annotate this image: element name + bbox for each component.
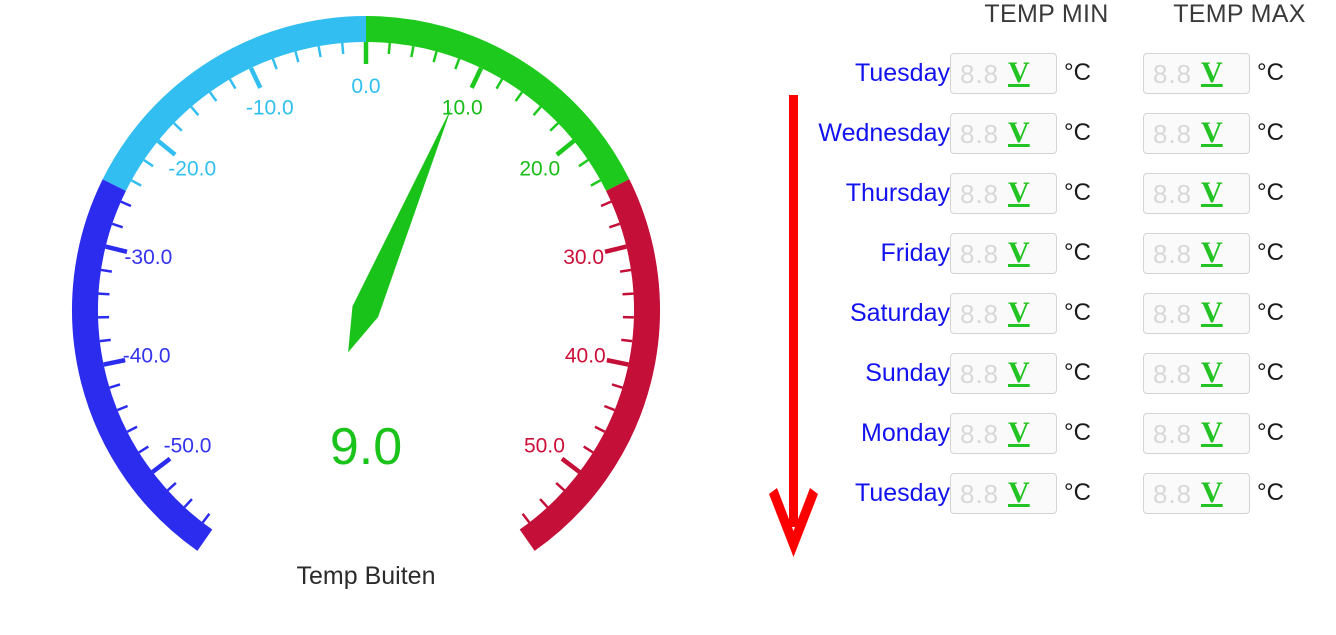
unit-label: °C — [1257, 119, 1284, 147]
temp-max-cell: 8.8V°C — [1143, 283, 1336, 343]
temp-min-cell: 8.8V°C — [950, 283, 1143, 343]
unit-label: °C — [1257, 299, 1284, 327]
temperature-gauge-panel: -50.0-40.0-30.0-20.0-10.00.010.020.030.0… — [0, 0, 740, 635]
gauge-minor-tick — [540, 499, 547, 507]
gauge-major-tick — [472, 68, 481, 88]
gauge-major-tick — [562, 459, 580, 472]
segment-ghost-digits: 8.8 — [1153, 57, 1192, 91]
temp-min-field[interactable]: 8.8V — [950, 233, 1057, 274]
day-cell: Tuesday — [800, 463, 950, 523]
gauge-major-tick — [153, 459, 171, 472]
forecast-table: TEMP MIN TEMP MAX Tuesday8.8V°C8.8V°CWed… — [800, 0, 1336, 523]
segment-live-glyph: V — [1008, 56, 1030, 90]
gauge-major-tick — [605, 247, 626, 252]
gauge-tick-label: -40.0 — [123, 345, 171, 368]
temp-max-cell: 8.8V°C — [1143, 403, 1336, 463]
unit-label: °C — [1257, 419, 1284, 447]
gauge-minor-tick — [144, 160, 153, 166]
gauge-minor-tick — [295, 51, 298, 62]
temp-max-field[interactable]: 8.8V — [1143, 473, 1250, 514]
gauge-minor-tick — [434, 51, 437, 62]
day-label: Friday — [881, 239, 950, 267]
day-cell: Monday — [800, 403, 950, 463]
table-row: Friday8.8V°C8.8V°C — [800, 223, 1336, 283]
day-label: Saturday — [850, 299, 950, 327]
temp-min-cell: 8.8V°C — [950, 223, 1143, 283]
temp-max-cell: 8.8V°C — [1143, 103, 1336, 163]
temp-min-cell: 8.8V°C — [950, 463, 1143, 523]
gauge-minor-tick — [210, 92, 216, 101]
gauge-minor-tick — [389, 43, 390, 54]
gauge-minor-tick — [455, 59, 459, 69]
table-row: Thursday8.8V°C8.8V°C — [800, 163, 1336, 223]
segment-ghost-digits: 8.8 — [1153, 117, 1192, 151]
temp-min-cell: 8.8V°C — [950, 343, 1143, 403]
temp-min-field[interactable]: 8.8V — [950, 113, 1057, 154]
temp-max-field[interactable]: 8.8V — [1143, 293, 1250, 334]
segment-live-glyph: V — [1201, 296, 1223, 330]
segment-ghost-digits: 8.8 — [960, 297, 999, 331]
gauge-minor-tick — [620, 270, 631, 272]
gauge-tick-label: 30.0 — [563, 246, 604, 269]
gauge-minor-tick — [127, 427, 137, 432]
table-row: Sunday8.8V°C8.8V°C — [800, 343, 1336, 403]
segment-ghost-digits: 8.8 — [960, 237, 999, 271]
gauge-minor-tick — [579, 160, 588, 166]
gauge-tick-label: 50.0 — [524, 434, 565, 457]
gauge-band-cold — [114, 29, 366, 185]
gauge-minor-tick — [184, 499, 191, 507]
temp-min-field[interactable]: 8.8V — [950, 353, 1057, 394]
gauge-title-label: Temp Buiten — [297, 562, 436, 590]
segment-live-glyph: V — [1008, 176, 1030, 210]
unit-label: °C — [1257, 359, 1284, 387]
header-row: TEMP MIN TEMP MAX — [800, 0, 1336, 43]
gauge-minor-tick — [612, 384, 623, 387]
gauge-tick-label: -20.0 — [168, 158, 216, 181]
temp-max-cell: 8.8V°C — [1143, 223, 1336, 283]
gauge-minor-tick — [556, 483, 564, 490]
header-temp-min: TEMP MIN — [950, 0, 1143, 43]
gauge-minor-tick — [591, 180, 601, 185]
table-row: Saturday8.8V°C8.8V°C — [800, 283, 1336, 343]
segment-ghost-digits: 8.8 — [960, 417, 999, 451]
table-row: Monday8.8V°C8.8V°C — [800, 403, 1336, 463]
gauge-minor-tick — [319, 46, 321, 57]
gauge-minor-tick — [534, 107, 541, 115]
segment-ghost-digits: 8.8 — [960, 477, 999, 511]
segment-ghost-digits: 8.8 — [1153, 357, 1192, 391]
temp-max-cell: 8.8V°C — [1143, 343, 1336, 403]
day-label: Sunday — [865, 359, 950, 387]
unit-label: °C — [1064, 59, 1091, 87]
segment-ghost-digits: 8.8 — [960, 57, 999, 91]
segment-ghost-digits: 8.8 — [1153, 477, 1192, 511]
unit-label: °C — [1257, 59, 1284, 87]
segment-live-glyph: V — [1008, 296, 1030, 330]
day-label: Monday — [861, 419, 950, 447]
segment-live-glyph: V — [1201, 356, 1223, 390]
gauge-tick-label: 20.0 — [519, 158, 560, 181]
segment-ghost-digits: 8.8 — [1153, 417, 1192, 451]
temp-min-field[interactable]: 8.8V — [950, 413, 1057, 454]
unit-label: °C — [1257, 239, 1284, 267]
gauge-value-readout: 9.0 — [330, 418, 402, 476]
temp-min-field[interactable]: 8.8V — [950, 473, 1057, 514]
unit-label: °C — [1064, 239, 1091, 267]
segment-live-glyph: V — [1201, 116, 1223, 150]
segment-live-glyph: V — [1008, 356, 1030, 390]
temp-min-field[interactable]: 8.8V — [950, 293, 1057, 334]
unit-label: °C — [1064, 359, 1091, 387]
gauge-minor-tick — [621, 340, 632, 341]
forecast-table-body: Tuesday8.8V°C8.8V°CWednesday8.8V°C8.8V°C… — [800, 43, 1336, 523]
day-cell: Wednesday — [800, 103, 950, 163]
gauge-minor-tick — [99, 294, 110, 295]
gauge-tick-label-group: -50.0-40.0-30.0-20.0-10.00.010.020.030.0… — [123, 75, 606, 457]
forecast-panel: TEMP MIN TEMP MAX Tuesday8.8V°C8.8V°CWed… — [760, 0, 1336, 635]
temp-max-field[interactable]: 8.8V — [1143, 173, 1250, 214]
unit-label: °C — [1064, 419, 1091, 447]
segment-live-glyph: V — [1201, 476, 1223, 510]
gauge-minor-tick — [121, 202, 131, 206]
gauge-minor-tick — [584, 447, 593, 453]
unit-label: °C — [1064, 479, 1091, 507]
day-cell: Friday — [800, 223, 950, 283]
segment-live-glyph: V — [1008, 236, 1030, 270]
gauge-tick-label: -30.0 — [124, 246, 172, 269]
temp-max-cell: 8.8V°C — [1143, 463, 1336, 523]
segment-live-glyph: V — [1008, 476, 1030, 510]
gauge-minor-tick — [609, 224, 619, 228]
unit-label: °C — [1257, 179, 1284, 207]
gauge-tick-label: 40.0 — [565, 345, 606, 368]
gauge-minor-tick — [604, 406, 614, 410]
header-day — [800, 0, 950, 43]
segment-ghost-digits: 8.8 — [1153, 177, 1192, 211]
header-temp-max: TEMP MAX — [1143, 0, 1336, 43]
day-label: Thursday — [846, 179, 950, 207]
gauge-minor-tick — [191, 107, 198, 115]
temp-min-field[interactable]: 8.8V — [950, 173, 1057, 214]
temp-max-field[interactable]: 8.8V — [1143, 353, 1250, 394]
gauge-minor-tick — [131, 180, 141, 185]
unit-label: °C — [1064, 299, 1091, 327]
gauge-minor-tick — [168, 483, 176, 490]
unit-label: °C — [1257, 479, 1284, 507]
gauge-minor-tick — [203, 514, 210, 523]
temp-max-cell: 8.8V°C — [1143, 43, 1336, 103]
gauge-minor-tick — [117, 406, 127, 410]
gauge-tick-label: -50.0 — [164, 434, 212, 457]
temp-max-field[interactable]: 8.8V — [1143, 53, 1250, 94]
gauge-minor-tick — [516, 92, 522, 101]
gauge-minor-tick — [342, 43, 343, 54]
segment-ghost-digits: 8.8 — [1153, 237, 1192, 271]
temp-min-cell: 8.8V°C — [950, 403, 1143, 463]
gauge-tick-label: -10.0 — [246, 97, 294, 120]
gauge-minor-tick — [550, 123, 558, 131]
unit-label: °C — [1064, 119, 1091, 147]
temp-min-cell: 8.8V°C — [950, 43, 1143, 103]
day-label: Wednesday — [818, 119, 950, 147]
day-label: Tuesday — [855, 59, 950, 87]
gauge-minor-tick — [623, 294, 634, 295]
temp-min-field[interactable]: 8.8V — [950, 53, 1057, 94]
segment-live-glyph: V — [1201, 416, 1223, 450]
unit-label: °C — [1064, 179, 1091, 207]
segment-ghost-digits: 8.8 — [960, 177, 999, 211]
segment-ghost-digits: 8.8 — [1153, 297, 1192, 331]
day-cell: Tuesday — [800, 43, 950, 103]
gauge-major-tick — [251, 68, 260, 88]
gauge-minor-tick — [100, 340, 111, 341]
app-root: -50.0-40.0-30.0-20.0-10.00.010.020.030.0… — [0, 0, 1336, 635]
table-row: Wednesday8.8V°C8.8V°C — [800, 103, 1336, 163]
gauge-minor-tick — [230, 79, 236, 88]
table-row: Tuesday8.8V°C8.8V°C — [800, 43, 1336, 103]
segment-live-glyph: V — [1008, 416, 1030, 450]
day-label: Tuesday — [855, 479, 950, 507]
gauge-major-tick — [158, 141, 175, 155]
gauge-minor-tick — [411, 46, 413, 57]
temp-max-cell: 8.8V°C — [1143, 163, 1336, 223]
gauge-tick-label: 0.0 — [351, 75, 380, 98]
gauge-needle — [348, 107, 452, 352]
temp-max-field[interactable]: 8.8V — [1143, 413, 1250, 454]
arrow-shaft — [789, 95, 798, 527]
segment-ghost-digits: 8.8 — [960, 357, 999, 391]
gauge-minor-tick — [101, 270, 112, 272]
gauge-minor-tick — [595, 427, 605, 432]
day-cell: Thursday — [800, 163, 950, 223]
gauge-minor-tick — [112, 224, 122, 228]
temp-min-cell: 8.8V°C — [950, 163, 1143, 223]
gauge-major-tick — [557, 141, 574, 155]
segment-live-glyph: V — [1201, 56, 1223, 90]
gauge-minor-tick — [273, 59, 277, 69]
table-row: Tuesday8.8V°C8.8V°C — [800, 463, 1336, 523]
gauge-band-mild — [366, 29, 618, 185]
gauge-major-tick — [607, 360, 629, 364]
gauge-minor-tick — [523, 514, 530, 523]
gauge-minor-tick — [497, 79, 503, 88]
temp-max-field[interactable]: 8.8V — [1143, 233, 1250, 274]
gauge-minor-tick — [110, 384, 121, 387]
gauge-minor-tick — [139, 447, 148, 453]
gauge-minor-tick — [174, 123, 182, 131]
day-cell: Saturday — [800, 283, 950, 343]
temp-min-cell: 8.8V°C — [950, 103, 1143, 163]
segment-live-glyph: V — [1201, 176, 1223, 210]
segment-ghost-digits: 8.8 — [960, 117, 999, 151]
day-cell: Sunday — [800, 343, 950, 403]
forecast-table-head: TEMP MIN TEMP MAX — [800, 0, 1336, 43]
gauge-svg: -50.0-40.0-30.0-20.0-10.00.010.020.030.0… — [0, 0, 740, 635]
segment-live-glyph: V — [1008, 116, 1030, 150]
segment-live-glyph: V — [1201, 236, 1223, 270]
gauge-minor-tick — [601, 202, 611, 206]
temp-max-field[interactable]: 8.8V — [1143, 113, 1250, 154]
